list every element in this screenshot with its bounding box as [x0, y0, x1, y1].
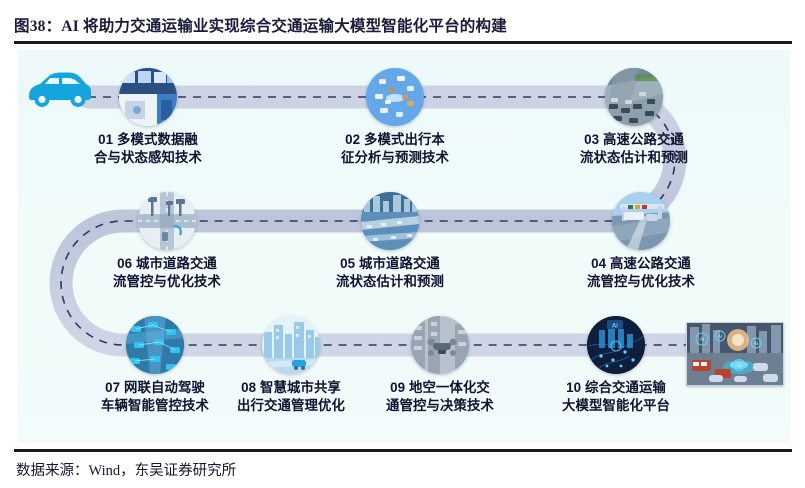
figure-title-bar: 图38：AI 将助力交通运输业实现综合交通运输大模型智能化平台的构建	[14, 10, 792, 40]
source-note: 数据来源：Wind，东吴证券研究所	[16, 459, 236, 480]
source-divider	[14, 449, 792, 452]
control-room-screens-icon	[119, 68, 177, 126]
infographic-panel: 01 多模式数据融 合与状态感知技术	[18, 50, 790, 443]
node-04-label: 04 高速公路交通 流管控与优化技术	[546, 255, 736, 291]
node-01-label: 01 多模式数据融 合与状态感知技术	[53, 131, 243, 167]
ai-smart-city-image: AI AI AI AI	[686, 322, 784, 386]
node-05-label: 05 城市道路交通 流状态估计和预测	[295, 255, 485, 291]
city-aerial-road-icon	[361, 192, 419, 250]
intersection-signals-icon	[138, 192, 196, 250]
svg-text:AI: AI	[754, 341, 758, 347]
highway-gantry-icon	[612, 192, 670, 250]
svg-text:AI: AI	[718, 334, 722, 340]
node-10-label: 10 综合交通运输 大模型智能化平台	[521, 379, 711, 415]
svg-text:AI: AI	[737, 363, 741, 369]
title-divider-top	[14, 41, 792, 44]
smart-city-skyline-icon	[262, 316, 320, 374]
node-03-label: 03 高速公路交通 流状态估计和预测	[539, 131, 729, 167]
page-title: 图38：AI 将助力交通运输业实现综合交通运输大模型智能化平台的构建	[14, 14, 507, 36]
connected-vehicles-icon	[126, 316, 184, 374]
figure-page: 图38：AI 将助力交通运输业实现综合交通运输大模型智能化平台的构建	[0, 0, 805, 488]
multimodal-vehicles-globe-icon	[366, 68, 424, 126]
node-02-label: 02 多模式出行本 征分析与预测技术	[300, 131, 490, 167]
drone-urban-airspace-icon	[411, 316, 469, 374]
highway-traffic-jam-icon	[605, 68, 663, 126]
svg-text:AI: AI	[612, 323, 618, 330]
ai-network-platform-icon: AI	[587, 316, 645, 374]
node-06-label: 06 城市道路交通 流管控与优化技术	[72, 255, 262, 291]
node-09-label: 09 地空一体化交 通管控与决策技术	[345, 379, 535, 415]
car-icon	[23, 65, 93, 113]
svg-text:AI: AI	[700, 337, 704, 343]
